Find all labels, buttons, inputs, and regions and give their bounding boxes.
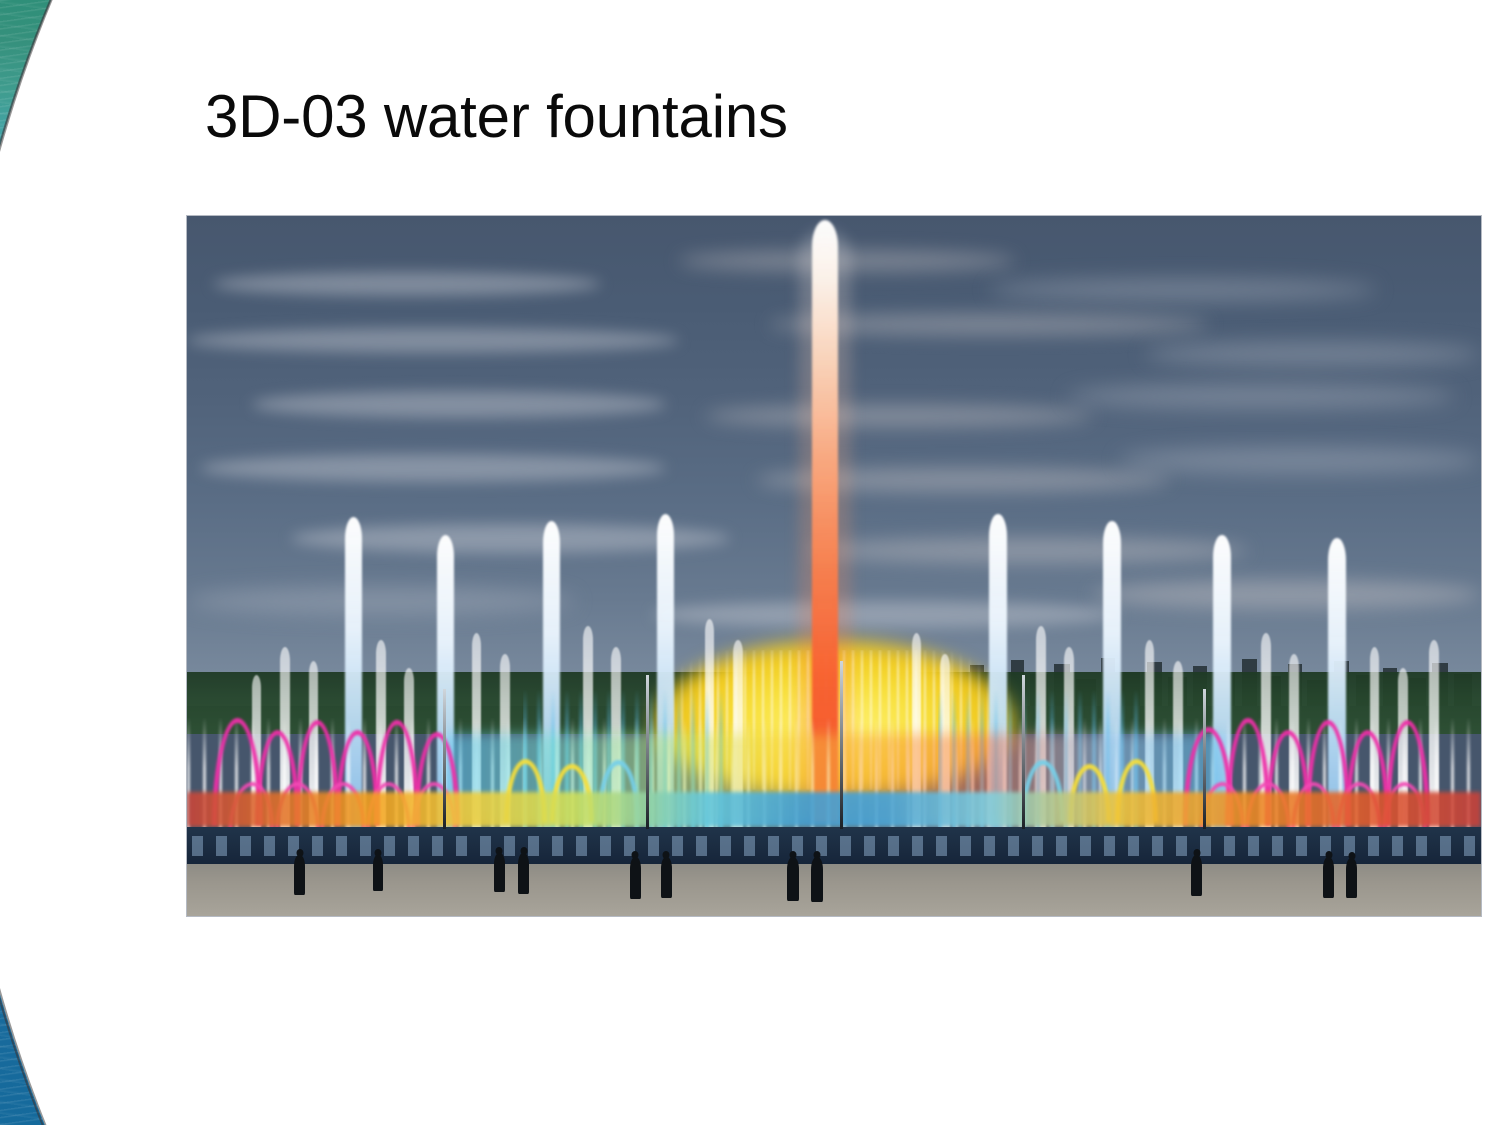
pedestrian-silhouette	[294, 855, 305, 895]
pedestrian-head	[496, 847, 503, 855]
pedestrian-head	[790, 851, 797, 859]
pedestrian-silhouette	[494, 853, 505, 892]
slide-canvas: 3D-03 water fountains	[0, 0, 1500, 1125]
pedestrian-head	[813, 851, 820, 859]
pedestrian-head	[375, 849, 382, 857]
pedestrian-silhouette	[787, 857, 799, 901]
cloud-shape	[252, 391, 666, 418]
pedestrian-silhouette	[811, 857, 823, 902]
pedestrian-head	[296, 849, 303, 857]
pedestrian-silhouette	[1191, 855, 1202, 896]
light-pole	[1022, 675, 1025, 829]
cloud-shape	[213, 272, 601, 296]
light-pole	[443, 689, 446, 829]
water-reflection-band	[187, 792, 1481, 827]
pedestrian-head	[632, 851, 639, 859]
page-title: 3D-03 water fountains	[205, 85, 1355, 150]
pedestrian-silhouette	[661, 857, 672, 898]
cloud-shape	[187, 328, 679, 353]
pedestrian-head	[520, 847, 527, 855]
light-pole	[646, 675, 649, 829]
pedestrian-silhouette	[630, 857, 641, 899]
cloud-shape	[1119, 447, 1481, 474]
pedestrian-silhouette	[518, 853, 529, 894]
pedestrian-head	[1348, 852, 1355, 860]
cloud-shape	[200, 454, 666, 482]
pedestrian-silhouette	[373, 855, 383, 891]
pedestrian-head	[1193, 849, 1200, 857]
fountain-photo[interactable]	[187, 216, 1481, 916]
cloud-shape	[653, 601, 1119, 628]
cloud-shape	[1145, 342, 1481, 366]
cloud-shape	[187, 587, 575, 615]
pedestrian-head	[663, 851, 670, 859]
cloud-shape	[1067, 384, 1455, 409]
light-pole	[840, 661, 843, 829]
pedestrian-head	[1325, 851, 1332, 859]
pedestrian-silhouette	[1346, 858, 1357, 898]
light-pole	[1203, 689, 1206, 829]
cloud-shape	[808, 538, 1248, 563]
pedestrian-silhouette	[1323, 857, 1334, 898]
